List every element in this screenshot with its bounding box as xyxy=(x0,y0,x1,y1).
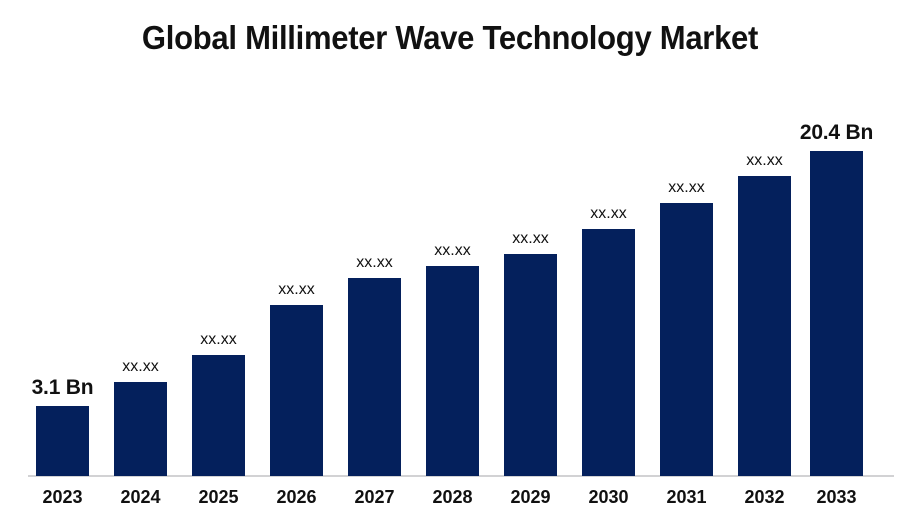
bar-chart-plot-area: 3.1 Bnxx.xxxx.xxxx.xxxx.xxxx.xxxx.xxxx.x… xyxy=(0,0,900,525)
bar-2027[interactable] xyxy=(348,278,401,476)
bar-2024[interactable] xyxy=(114,382,167,476)
bar-value-label-2026: xx.xx xyxy=(232,281,362,299)
bar-2032[interactable] xyxy=(738,176,791,476)
bar-value-label-2024: xx.xx xyxy=(76,358,206,376)
bar-2028[interactable] xyxy=(426,266,479,476)
bar-value-label-2029: xx.xx xyxy=(466,230,596,248)
bar-value-label-2030: xx.xx xyxy=(544,205,674,223)
bar-value-label-2025: xx.xx xyxy=(154,331,284,349)
chart-canvas: Global Millimeter Wave Technology Market… xyxy=(0,0,900,525)
bar-2030[interactable] xyxy=(582,229,635,476)
bar-value-label-2023: 3.1 Bn xyxy=(0,376,128,400)
bar-2025[interactable] xyxy=(192,355,245,476)
bar-value-label-2031: xx.xx xyxy=(622,179,752,197)
x-axis-label-2033: 2033 xyxy=(787,487,887,508)
bar-2033[interactable] xyxy=(810,151,863,476)
bar-2031[interactable] xyxy=(660,203,713,476)
bar-value-label-2033: 20.4 Bn xyxy=(772,121,900,145)
bar-2023[interactable] xyxy=(36,406,89,476)
bar-2029[interactable] xyxy=(504,254,557,476)
bar-2026[interactable] xyxy=(270,305,323,476)
